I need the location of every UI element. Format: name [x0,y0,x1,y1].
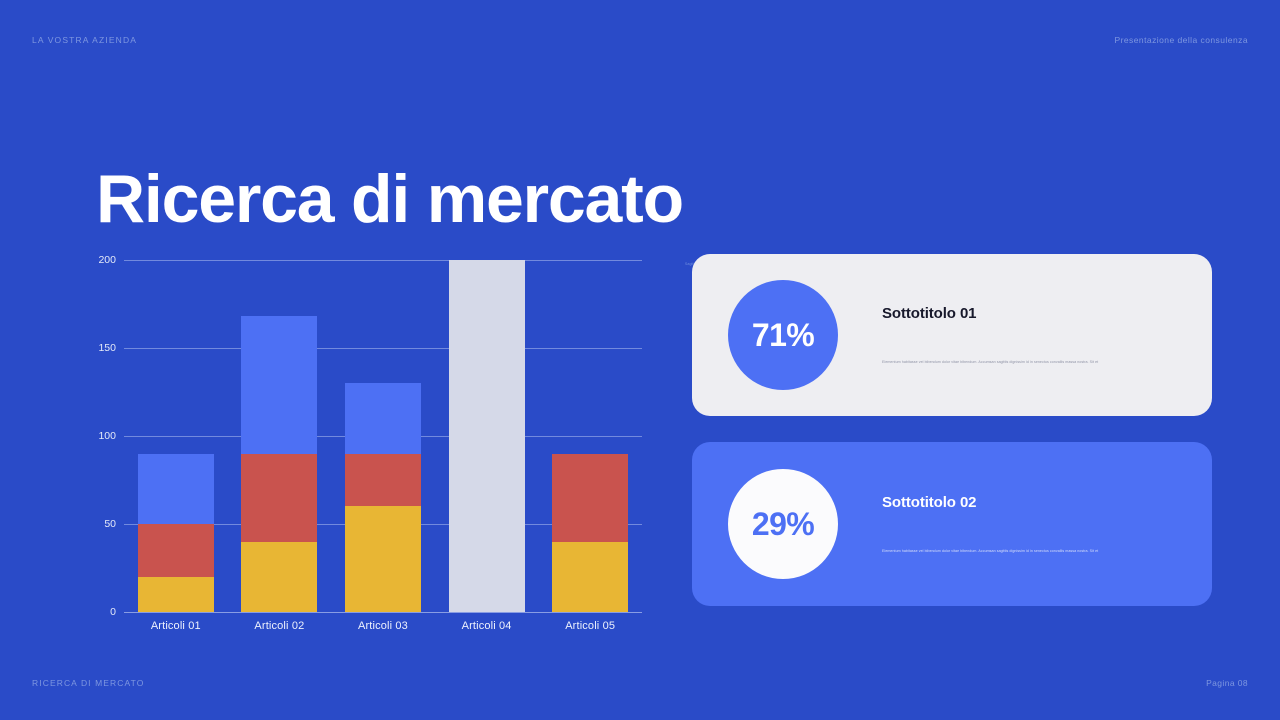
stat-card-1-text: Elementum habitasse vel bibendum dolor v… [882,360,1182,366]
slide-header: LA VOSTRA AZIENDA Presentazione della co… [32,35,1248,45]
slide-footer: RICERCA DI MERCATO Pagina 08 [32,678,1248,688]
chart-gridline [124,612,642,613]
stat-circle-1: 71% [728,280,838,390]
chart-x-tick: Articoli 04 [449,620,525,632]
stat-circle-2: 29% [728,469,838,579]
stat-percent-2: 29% [752,506,814,543]
chart-x-tick: Articoli 01 [138,620,214,632]
chart-y-tick: 200 [98,254,116,266]
chart-x-tick: Articoli 03 [345,620,421,632]
chart-bar[interactable] [345,260,421,612]
stat-card-1[interactable]: 71% Sottotitolo 01 Elementum habitasse v… [692,254,1212,416]
chart-y-tick: 150 [98,342,116,354]
bar-chart: 050100150200 Articoli 01Articoli 02Artic… [82,252,642,637]
chart-plot-area: 050100150200 [124,260,642,612]
chart-bar-segment [138,524,214,577]
chart-x-tick: Articoli 02 [241,620,317,632]
header-company-label: LA VOSTRA AZIENDA [32,35,137,45]
chart-bar[interactable] [552,260,628,612]
stat-card-2-body: Sottotitolo 02 Elementum habitasse vel b… [882,494,1212,555]
chart-bar-segment [552,542,628,612]
stat-card-2-title: Sottotitolo 02 [882,494,1182,511]
chart-bar-segment [138,577,214,612]
chart-y-tick: 0 [110,606,116,618]
chart-bar-segment [241,542,317,612]
chart-bar[interactable] [449,260,525,612]
header-deck-label: Presentazione della consulenza [1114,35,1248,45]
stat-card-2[interactable]: 29% Sottotitolo 02 Elementum habitasse v… [692,442,1212,606]
chart-bar[interactable] [138,260,214,612]
chart-bar-segment [345,383,421,453]
slide: LA VOSTRA AZIENDA Presentazione della co… [0,0,1280,720]
chart-x-tick: Articoli 05 [552,620,628,632]
chart-y-tick: 50 [104,518,116,530]
footer-page-number: Pagina 08 [1206,678,1248,688]
footer-section-label: RICERCA DI MERCATO [32,678,145,688]
chart-bars [124,260,642,612]
chart-bar-segment [552,454,628,542]
stat-percent-1: 71% [752,317,814,354]
chart-bar-segment [138,454,214,524]
chart-bar-segment [345,506,421,612]
chart-x-labels: Articoli 01Articoli 02Articoli 03Articol… [124,620,642,632]
chart-bar-segment [241,316,317,453]
chart-bar-segment [449,260,525,612]
stat-cards: 71% Sottotitolo 01 Elementum habitasse v… [692,254,1212,606]
stat-card-1-body: Sottotitolo 01 Elementum habitasse vel b… [882,305,1212,366]
chart-bar-segment [345,454,421,507]
chart-bar[interactable] [241,260,317,612]
stat-card-2-text: Elementum habitasse vel bibendum dolor v… [882,549,1182,555]
page-title: Ricerca di mercato [96,162,683,236]
stat-card-1-title: Sottotitolo 01 [882,305,1182,322]
chart-y-tick: 100 [98,430,116,442]
chart-bar-segment [241,454,317,542]
